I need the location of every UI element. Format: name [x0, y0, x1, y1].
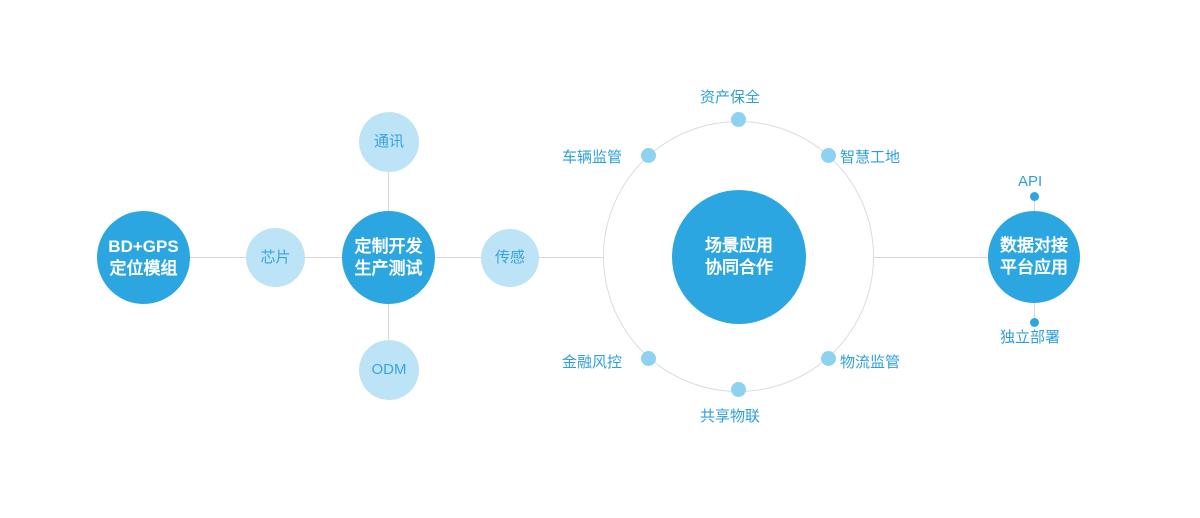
- node-custom-development[interactable]: 定制开发 生产测试: [342, 211, 435, 304]
- connector-hub-data: [873, 257, 990, 258]
- orbit-dot-shared-iot[interactable]: [731, 382, 746, 397]
- node-chip[interactable]: 芯片: [246, 228, 305, 287]
- connector-bdgps-chip: [188, 257, 248, 258]
- stub-label-independent-deployment: 独立部署: [1000, 326, 1060, 347]
- connector-custom-sensor: [433, 257, 483, 258]
- orbit-dot-vehicle-monitor[interactable]: [641, 148, 656, 163]
- node-scenario-application-hub[interactable]: 场景应用 协同合作: [672, 190, 806, 324]
- orbit-label-logistics-monitor: 物流监管: [840, 351, 900, 372]
- node-communication-label: 通讯: [374, 132, 404, 151]
- orbit-label-financial-risk: 金融风控: [562, 351, 622, 372]
- connector-chip-custom: [303, 257, 344, 258]
- orbit-dot-logistics-monitor[interactable]: [821, 351, 836, 366]
- orbit-label-shared-iot: 共享物联: [700, 405, 760, 426]
- node-odm-label: ODM: [372, 360, 407, 379]
- node-data-integration-platform[interactable]: 数据对接 平台应用: [988, 211, 1080, 303]
- connector-custom-odm: [388, 303, 389, 341]
- node-data-integration-platform-label: 数据对接 平台应用: [1000, 235, 1068, 279]
- orbit-dot-smart-site[interactable]: [821, 148, 836, 163]
- node-sensor-label: 传感: [495, 248, 525, 267]
- orbit-label-smart-site: 智慧工地: [840, 146, 900, 167]
- orbit-label-vehicle-monitor: 车辆监管: [562, 146, 622, 167]
- node-bd-gps-module[interactable]: BD+GPS 定位模组: [97, 211, 190, 304]
- node-bd-gps-module-label: BD+GPS 定位模组: [108, 236, 178, 280]
- orbit-dot-financial-risk[interactable]: [641, 351, 656, 366]
- node-chip-label: 芯片: [260, 248, 290, 267]
- node-communication[interactable]: 通讯: [359, 112, 419, 172]
- connector-sensor-hub: [537, 257, 604, 258]
- node-sensor[interactable]: 传感: [481, 229, 539, 287]
- connector-custom-comm: [388, 171, 389, 212]
- orbit-label-asset-security: 资产保全: [700, 86, 760, 107]
- orbit-dot-asset-security[interactable]: [731, 112, 746, 127]
- diagram-canvas: BD+GPS 定位模组 芯片 通讯 定制开发 生产测试 ODM 传感 资产保全 …: [0, 0, 1200, 518]
- stub-dot-api[interactable]: [1030, 192, 1039, 201]
- node-custom-development-label: 定制开发 生产测试: [355, 236, 423, 280]
- stub-label-api: API: [1018, 173, 1042, 190]
- node-scenario-application-hub-label: 场景应用 协同合作: [705, 235, 773, 279]
- node-odm[interactable]: ODM: [359, 340, 419, 400]
